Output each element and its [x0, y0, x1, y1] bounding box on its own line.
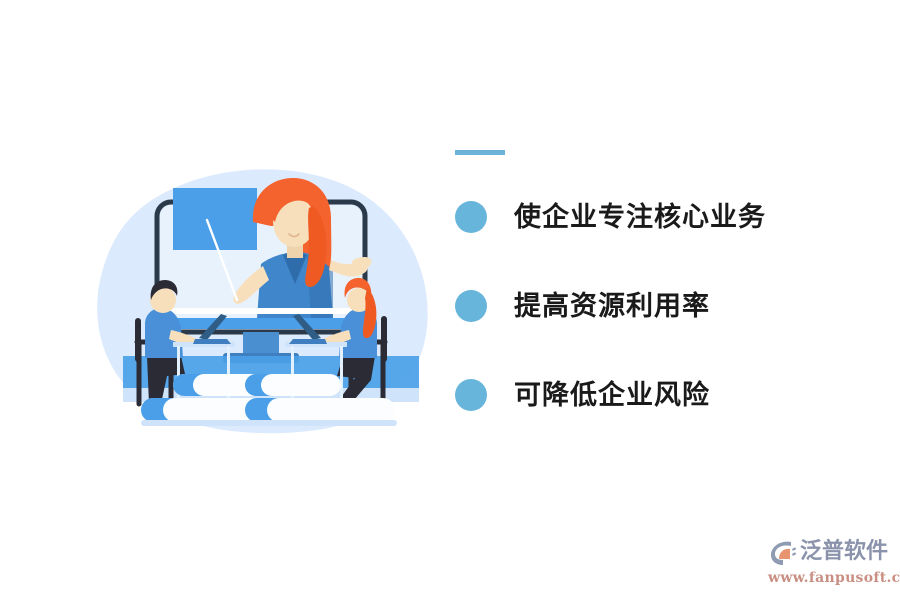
bullet-dot-icon	[455, 290, 487, 322]
book-stack-upper	[173, 374, 341, 396]
ground-shadow	[141, 420, 397, 426]
bullet-item-3: 可降低企业风险	[455, 373, 855, 417]
bullet-label-2: 提高资源利用率	[514, 293, 710, 320]
bullet-label-1: 使企业专注核心业务	[514, 204, 766, 231]
right-chair-back	[381, 316, 387, 362]
bullet-panel: 使企业专注核心业务 提高资源利用率 可降低企业风险	[455, 150, 855, 417]
slide-canvas: 使企业专注核心业务 提高资源利用率 可降低企业风险	[0, 0, 900, 600]
monitor-neck	[243, 332, 279, 356]
bullet-label-3: 可降低企业风险	[514, 382, 710, 409]
left-laptop-base	[193, 339, 231, 344]
monitor-strip-1	[161, 308, 361, 314]
bullet-dot-icon	[455, 379, 487, 411]
logo-row: 泛普软件	[768, 536, 896, 568]
fanpu-logo-mark	[768, 537, 798, 567]
bullet-item-1: 使企业专注核心业务	[455, 195, 855, 239]
book-stack-lower	[141, 398, 395, 422]
right-laptop-base	[289, 339, 327, 344]
online-classroom-illustration	[95, 160, 445, 435]
fanpu-logo: 泛普软件 www.fanpusoft.com	[768, 536, 896, 588]
logo-url: www.fanpusoft.com	[768, 571, 896, 585]
logo-wordmark: 泛普软件	[800, 541, 888, 563]
bullet-item-2: 提高资源利用率	[455, 284, 855, 328]
bullet-dot-icon	[455, 201, 487, 233]
right-desk-leg-b	[340, 346, 343, 402]
monitor-strip-2	[161, 318, 361, 329]
left-chair-back	[135, 318, 141, 362]
accent-rule	[455, 150, 505, 155]
